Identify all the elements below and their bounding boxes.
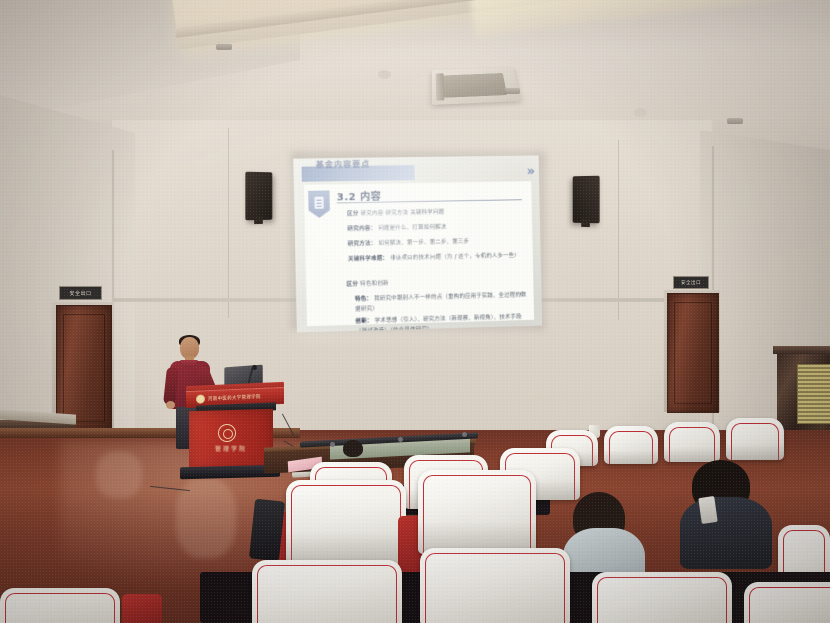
door-reflection (96, 452, 142, 498)
rail-knob-2 (398, 437, 403, 442)
slide-line-2-label: 研究方法： (348, 241, 377, 248)
slide-line-2: 研究方法： 如何解决、第一步、第二步、第三步 (348, 237, 470, 248)
door-left[interactable] (56, 305, 112, 431)
slide-line-5-text: 我研究中跟别人不一样的点（重构的应用于实践、全过程的数据研究） (355, 292, 526, 313)
slide-line-5: 特色： 我研究中跟别人不一样的点（重构的应用于实践、全过程的数据研究） (355, 290, 529, 315)
chevron-double-right-icon: » (527, 164, 534, 179)
slide-banner-label: 基金内容要点 (316, 159, 371, 171)
ac-vent (436, 73, 445, 101)
seat[interactable] (420, 548, 570, 623)
slide-line-0-text: 研究内容 研究方法 关键科学问题 (361, 210, 445, 218)
slide-line-4-label: 区分 (347, 281, 359, 287)
seat-piping (5, 593, 115, 623)
wall-speaker-icon (245, 172, 272, 221)
seat-shade (664, 447, 720, 462)
door-right[interactable] (667, 293, 719, 413)
wall-seam-mid-right (618, 140, 619, 320)
door-left-panel (63, 314, 105, 422)
podium-front-text: 河南中医药大学管理学院 (208, 393, 261, 401)
ac-grille (444, 73, 507, 98)
slide-line-2-text: 如何解决、第一步、第二步、第三步 (378, 239, 469, 247)
speaker-bracket (254, 216, 263, 224)
slide-line-0-label: 区分 (347, 211, 359, 217)
rail-knob-1 (330, 442, 335, 447)
seat[interactable] (252, 560, 402, 623)
presenter-left-hand (166, 401, 175, 409)
exit-sign-left-label: 安全出口 (69, 290, 91, 297)
seat-piping (425, 553, 565, 623)
seat[interactable] (418, 470, 536, 554)
seat[interactable] (604, 426, 658, 464)
slide-line-4: 区分 特色和创新 (347, 279, 389, 288)
document-badge-icon (308, 190, 330, 218)
seat[interactable] (592, 572, 732, 623)
ceiling-light-2 (504, 88, 520, 94)
podium-body-seal-icon (218, 424, 236, 442)
slide-line-3: 关键科学难题： 非该项目的技术问题（为了这个，专机的人多一些） (348, 251, 520, 263)
speaker-bracket (581, 219, 590, 227)
stone-cap-right (773, 346, 830, 354)
slide-body: 3.2 内容 区分 研究内容 研究方法 关键科学问题 研究内容： 问题是什么、打… (304, 181, 534, 326)
seat[interactable] (664, 422, 720, 462)
seat-shade (604, 450, 658, 464)
slide-line-0: 区分 研究内容 研究方法 关键科学问题 (347, 208, 444, 218)
seat-piping (597, 577, 727, 623)
slide-line-1-text: 问题是什么、打算如何解决 (378, 224, 446, 231)
cove-glow (470, 0, 830, 38)
smoke-detector-4 (634, 108, 647, 117)
wall-speaker-icon (573, 176, 600, 224)
attendee-dark-suit (680, 497, 772, 569)
lecture-hall-photo: 安全出口 安全出口 基金内容要点 » 3.2 内容 区分 研究内容 (0, 0, 830, 623)
door-right-panel (674, 302, 712, 404)
ceiling-light-1 (216, 44, 232, 50)
slide-line-3-text: 非该项目的技术问题（为了这个，专机的人多一些） (390, 253, 520, 262)
smoke-detector-1 (378, 70, 391, 79)
podium-body-text: 管理学院 (206, 444, 256, 453)
ceiling-cassette-ac-icon (432, 67, 521, 105)
ceiling-light-5 (727, 118, 743, 124)
air-grille-right (797, 364, 830, 424)
microphone-head (252, 365, 257, 370)
seat[interactable] (0, 588, 120, 623)
seat-piping (257, 565, 397, 623)
slide-line-1: 研究内容： 问题是什么、打算如何解决 (347, 222, 446, 232)
seat[interactable] (726, 418, 784, 460)
exit-sign-right-label: 安全出口 (681, 280, 701, 286)
front-row-attendee (343, 440, 363, 457)
seat[interactable] (744, 582, 830, 623)
wall-seam-mid-left (228, 128, 229, 318)
seat-frame-red (122, 594, 162, 623)
university-seal-icon (196, 394, 205, 403)
seat[interactable] (286, 480, 406, 564)
exit-sign-left: 安全出口 (59, 286, 102, 300)
attendee-collar (698, 496, 717, 524)
seat-armrest[interactable] (249, 499, 285, 562)
rail-knob-3 (462, 432, 467, 437)
seat-shade (726, 444, 784, 460)
badge-doc-glyph (314, 197, 323, 209)
slide-line-3-label: 关键科学难题： (348, 256, 388, 263)
slide-line-6-label: 创新： (355, 318, 372, 325)
slide-line-4-text: 特色和创新 (360, 281, 389, 288)
seat-piping (749, 587, 830, 623)
exit-sign-right: 安全出口 (673, 276, 709, 289)
slide-line-5-label: 特色： (355, 296, 372, 302)
slide-line-1-label: 研究内容： (347, 226, 376, 233)
projection-screen: 基金内容要点 » 3.2 内容 区分 研究内容 研究方法 关键科学问题 研究内容… (293, 155, 542, 332)
